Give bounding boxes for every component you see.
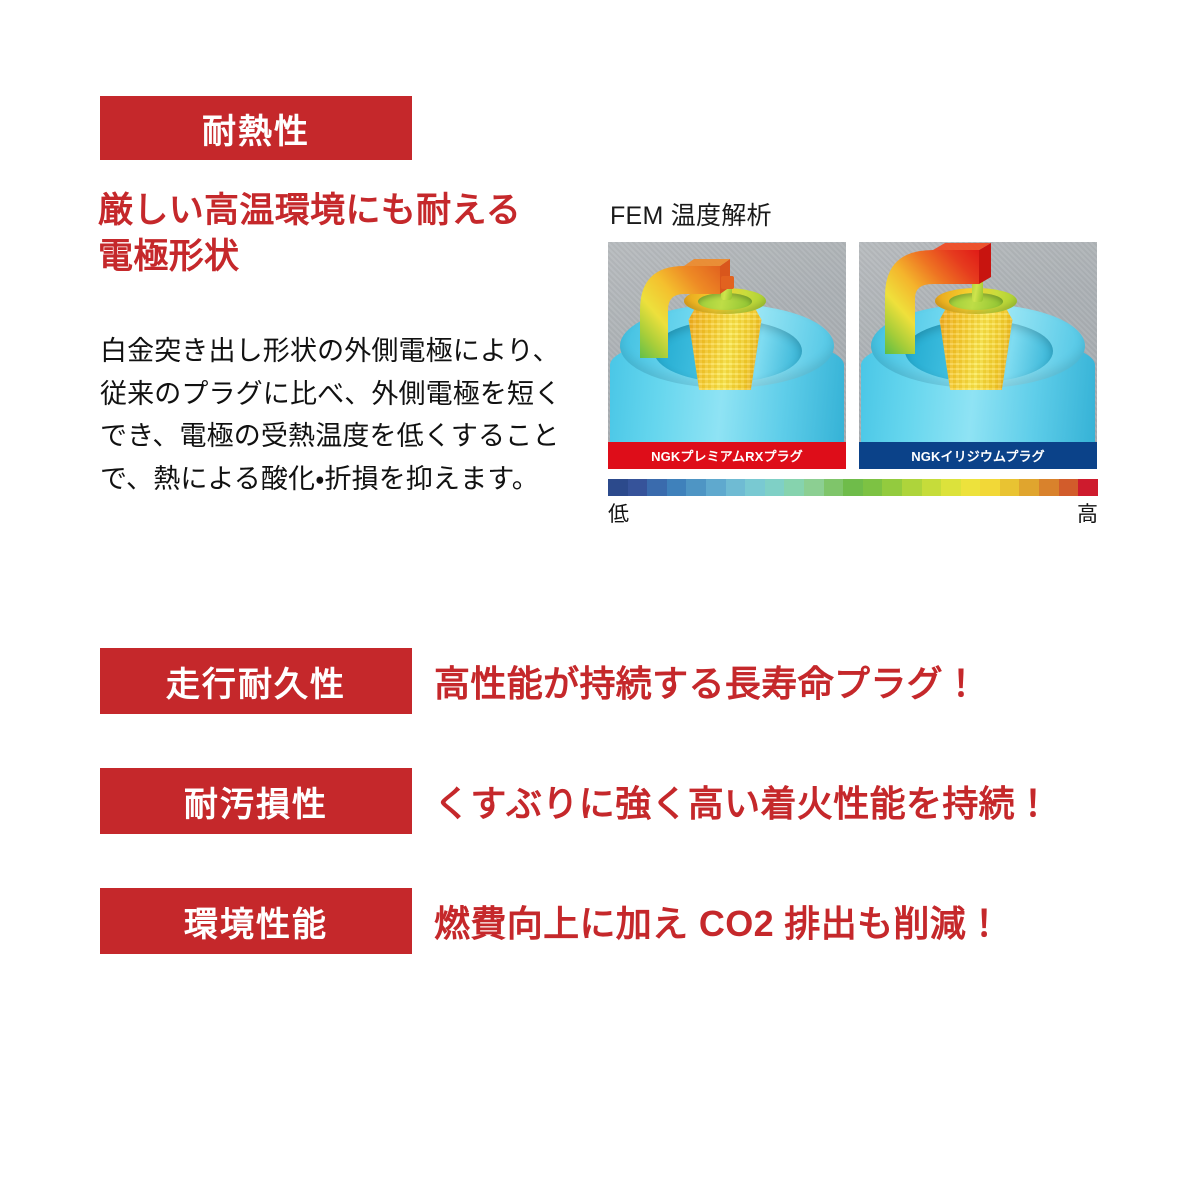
scale-band-12 [843,479,863,496]
scale-band-18 [961,479,981,496]
heat-resistance-badge: 耐熱性 [100,96,412,160]
scale-band-23 [1059,479,1079,496]
fem-panel-iridium: NGKイリジウムプラグ [859,242,1097,469]
feature-badge-fouling-resistance: 耐汚損性 [100,768,412,834]
feature-badge-fouling-resistance-label: 耐汚損性 [184,777,328,826]
scale-band-21 [1019,479,1039,496]
scale-band-0 [608,479,628,496]
scale-band-8 [765,479,785,496]
fem-label-premium-rx-text: NGKプレミアムRXプラグ [651,446,803,465]
scale-low-label: 低 [608,498,629,528]
scale-band-3 [667,479,687,496]
heat-resistance-heading: 厳しい高温環境にも耐える 電極形状 [98,188,598,280]
temperature-color-scale [608,479,1098,496]
heat-heading-line-1: 厳しい高温環境にも耐える [98,188,598,234]
heat-body-line-1: 白金突き出し形状の外側電極により、 [100,330,580,373]
scale-band-19 [980,479,1000,496]
scale-band-22 [1039,479,1059,496]
heat-resistance-body: 白金突き出し形状の外側電極により、 従来のプラグに比べ、外側電極を短く でき、電… [100,330,580,501]
fem-analysis-title: FEM 温度解析 [610,196,1098,232]
heat-body-line-2: 従来のプラグに比べ、外側電極を短く [100,373,580,416]
scale-band-16 [922,479,942,496]
feature-row-environmental: 環境性能 燃費向上に加え CO2 排出も削減！ [100,888,1003,954]
ground-electrode-icon [869,242,999,356]
feature-badge-durability: 走行耐久性 [100,648,412,714]
scale-band-1 [628,479,648,496]
scale-band-2 [647,479,667,496]
scale-band-17 [941,479,961,496]
ground-electrode-icon [622,250,740,360]
feature-badge-environmental-label: 環境性能 [184,897,328,946]
heat-resistance-badge-label: 耐熱性 [202,104,310,153]
fem-label-iridium-text: NGKイリジウムプラグ [911,446,1045,465]
scale-high-label: 高 [1077,498,1098,528]
fem-render-iridium [859,242,1097,442]
scale-band-9 [784,479,804,496]
fem-panel-premium-rx: NGKプレミアムRXプラグ [608,242,846,469]
fem-analysis-block: FEM 温度解析 [608,196,1098,528]
scale-band-11 [824,479,844,496]
feature-row-fouling-resistance: 耐汚損性 くすぶりに強く高い着火性能を持続！ [100,768,1051,834]
scale-band-13 [863,479,883,496]
ground-electrode-iridium [869,242,999,356]
feature-badge-durability-label: 走行耐久性 [166,657,346,706]
heat-body-line-3: でき、電極の受熱温度を低くすること [100,415,580,458]
scale-band-5 [706,479,726,496]
scale-band-15 [902,479,922,496]
feature-badge-environmental: 環境性能 [100,888,412,954]
feature-text-durability: 高性能が持続する長寿命プラグ！ [434,655,979,707]
scale-band-14 [882,479,902,496]
scale-band-4 [686,479,706,496]
temperature-scale-labels: 低 高 [608,498,1098,528]
scale-band-7 [745,479,765,496]
fem-render-premium-rx [608,242,846,442]
feature-text-fouling-resistance: くすぶりに強く高い着火性能を持続！ [434,775,1051,827]
fem-label-iridium: NGKイリジウムプラグ [859,442,1097,469]
scale-band-24 [1078,479,1098,496]
feature-text-environmental: 燃費向上に加え CO2 排出も削減！ [434,895,1003,947]
scale-band-20 [1000,479,1020,496]
ground-electrode-premium-rx [622,250,740,360]
scale-band-10 [804,479,824,496]
heat-heading-line-2: 電極形状 [98,234,598,280]
fem-label-premium-rx: NGKプレミアムRXプラグ [608,442,846,469]
scale-band-6 [726,479,746,496]
feature-row-durability: 走行耐久性 高性能が持続する長寿命プラグ！ [100,648,979,714]
fem-panel-grid: NGKプレミアムRXプラグ [608,242,1098,469]
heat-body-line-4: で、熱による酸化・折損を抑えます。 [100,458,580,501]
